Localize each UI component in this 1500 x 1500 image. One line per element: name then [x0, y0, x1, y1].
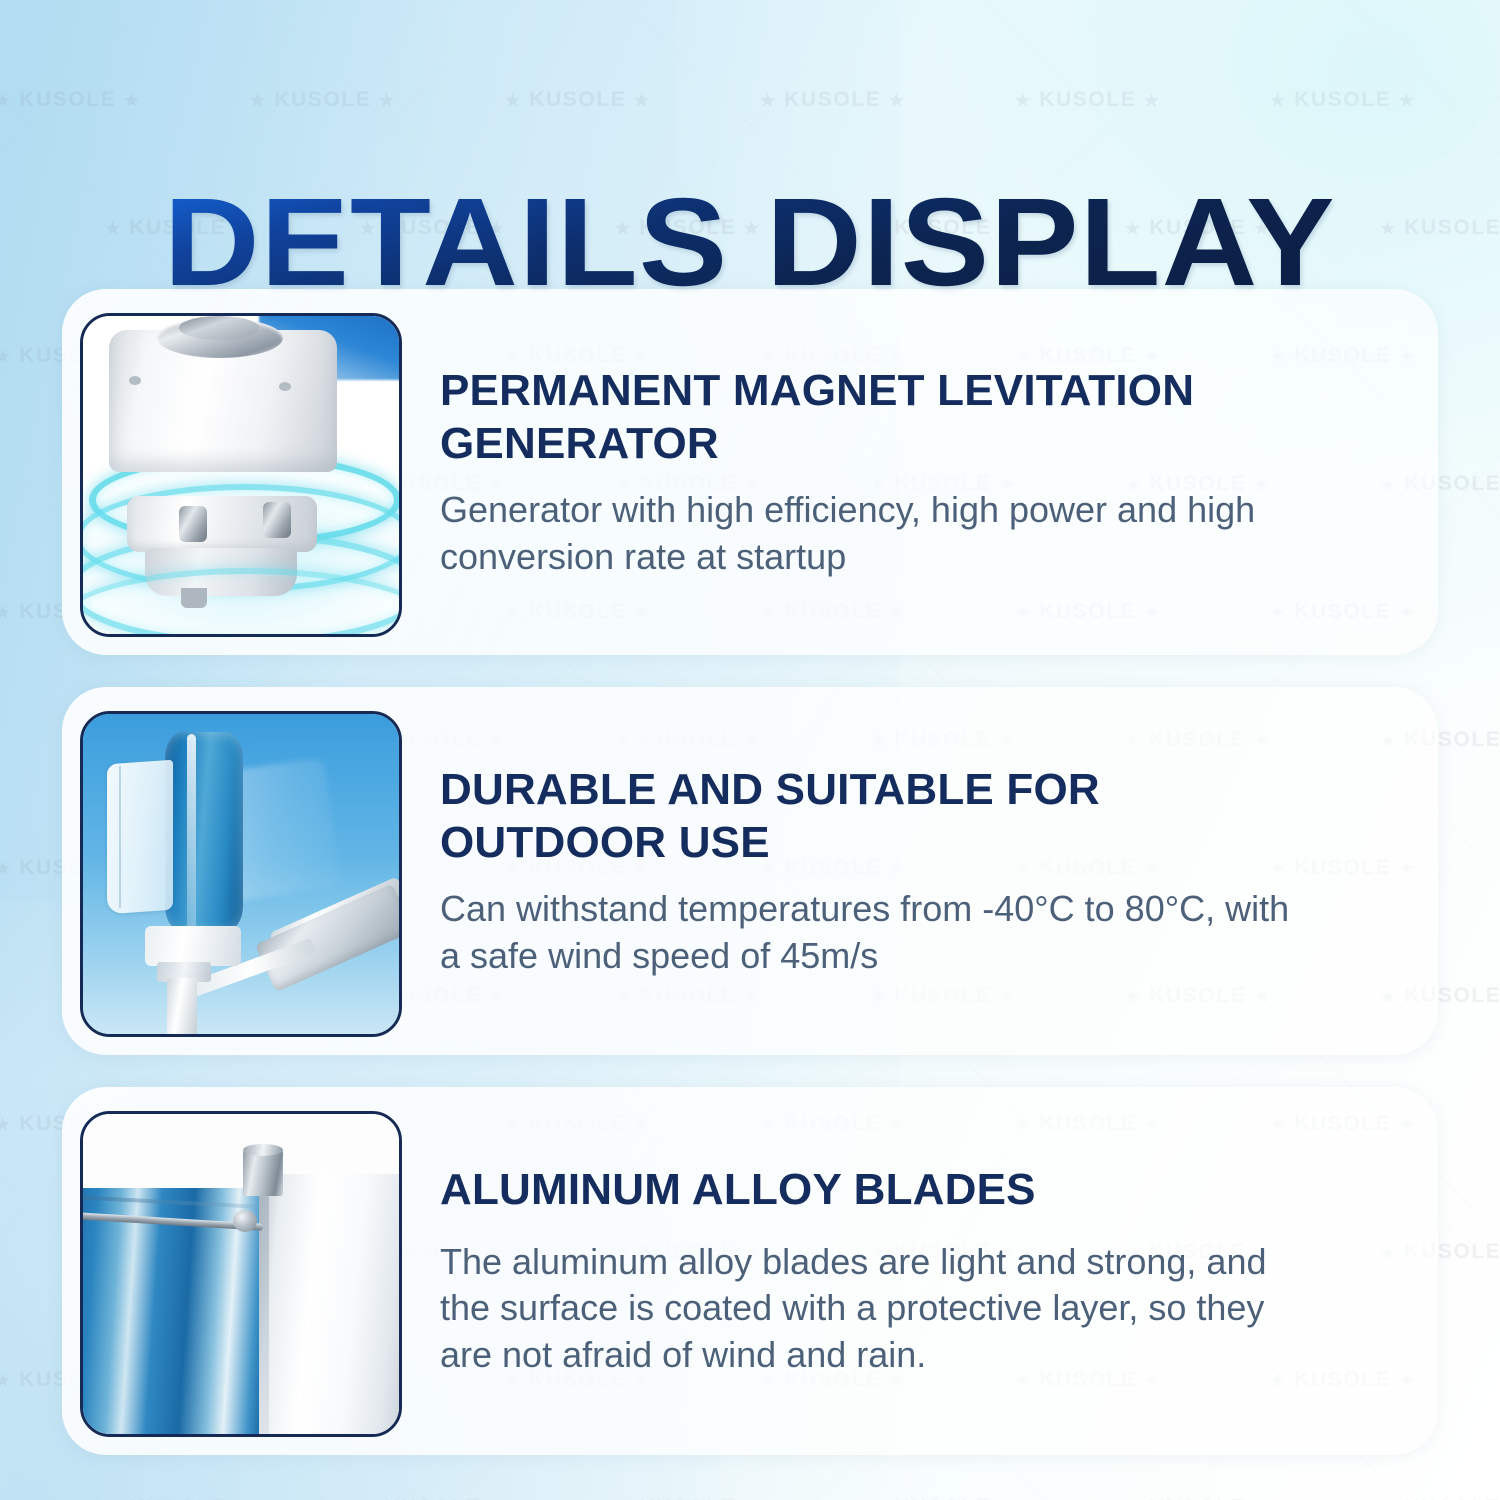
- turbine-blade-seam: [119, 766, 121, 908]
- feature-description-1: Generator with high efficiency, high pow…: [440, 487, 1300, 581]
- blade-white-edge: [259, 1174, 269, 1434]
- wind-turbine-photo: [83, 714, 399, 1034]
- support-rod-cap: [233, 1210, 257, 1232]
- watermark-kusole: ★ KUSOLE ★: [1380, 1496, 1500, 1500]
- feature-image-3: [80, 1111, 402, 1437]
- feature-title-3: ALUMINUM ALLOY BLADES: [440, 1163, 1280, 1217]
- turbine-rotor-blue: [165, 732, 243, 932]
- feature-text-3: ALUMINUM ALLOY BLADES The aluminum alloy…: [440, 1087, 1382, 1455]
- turbine-nacelle: [145, 926, 241, 966]
- watermark-kusole: ★ KUSOLE ★: [105, 1496, 251, 1500]
- feature-card-aluminum-alloy-blades: ALUMINUM ALLOY BLADES The aluminum alloy…: [62, 1087, 1438, 1455]
- watermark-kusole: ★ KUSOLE ★: [870, 1496, 1016, 1500]
- feature-description-3: The aluminum alloy blades are light and …: [440, 1239, 1300, 1379]
- turbine-blade-white: [107, 760, 173, 915]
- page-title: DETAILS DISPLAY: [164, 180, 1336, 305]
- generator-screw-b: [263, 502, 291, 538]
- feature-description-2: Can withstand temperatures from -40°C to…: [440, 886, 1300, 980]
- mounting-pole: [167, 978, 197, 1034]
- blade-white: [259, 1174, 399, 1434]
- watermark-kusole: ★ KUSOLE ★: [615, 1496, 761, 1500]
- turbine-rotor-highlight: [187, 734, 196, 930]
- aluminum-blades-photo: [83, 1114, 399, 1434]
- feature-title-2: DURABLE AND SUITABLE FOR OUTDOOR USE: [440, 763, 1280, 870]
- watermark-kusole: ★ KUSOLE ★: [360, 1496, 506, 1500]
- feature-card-durable-and-suitable-for-outdoor-use: DURABLE AND SUITABLE FOR OUTDOOR USE Can…: [62, 687, 1438, 1055]
- blade-mounting-boss-top: [243, 1144, 283, 1156]
- product-detail-page: DETAILS DISPLAY: [0, 0, 1500, 1500]
- page-title-wrap: DETAILS DISPLAY: [0, 96, 1500, 389]
- watermark-kusole: ★ KUSOLE ★: [1125, 1496, 1271, 1500]
- generator-screw-a: [179, 506, 207, 542]
- feature-image-2: [80, 711, 402, 1037]
- feature-text-2: DURABLE AND SUITABLE FOR OUTDOOR USE Can…: [440, 687, 1382, 1055]
- street-lamp-head: [255, 884, 399, 993]
